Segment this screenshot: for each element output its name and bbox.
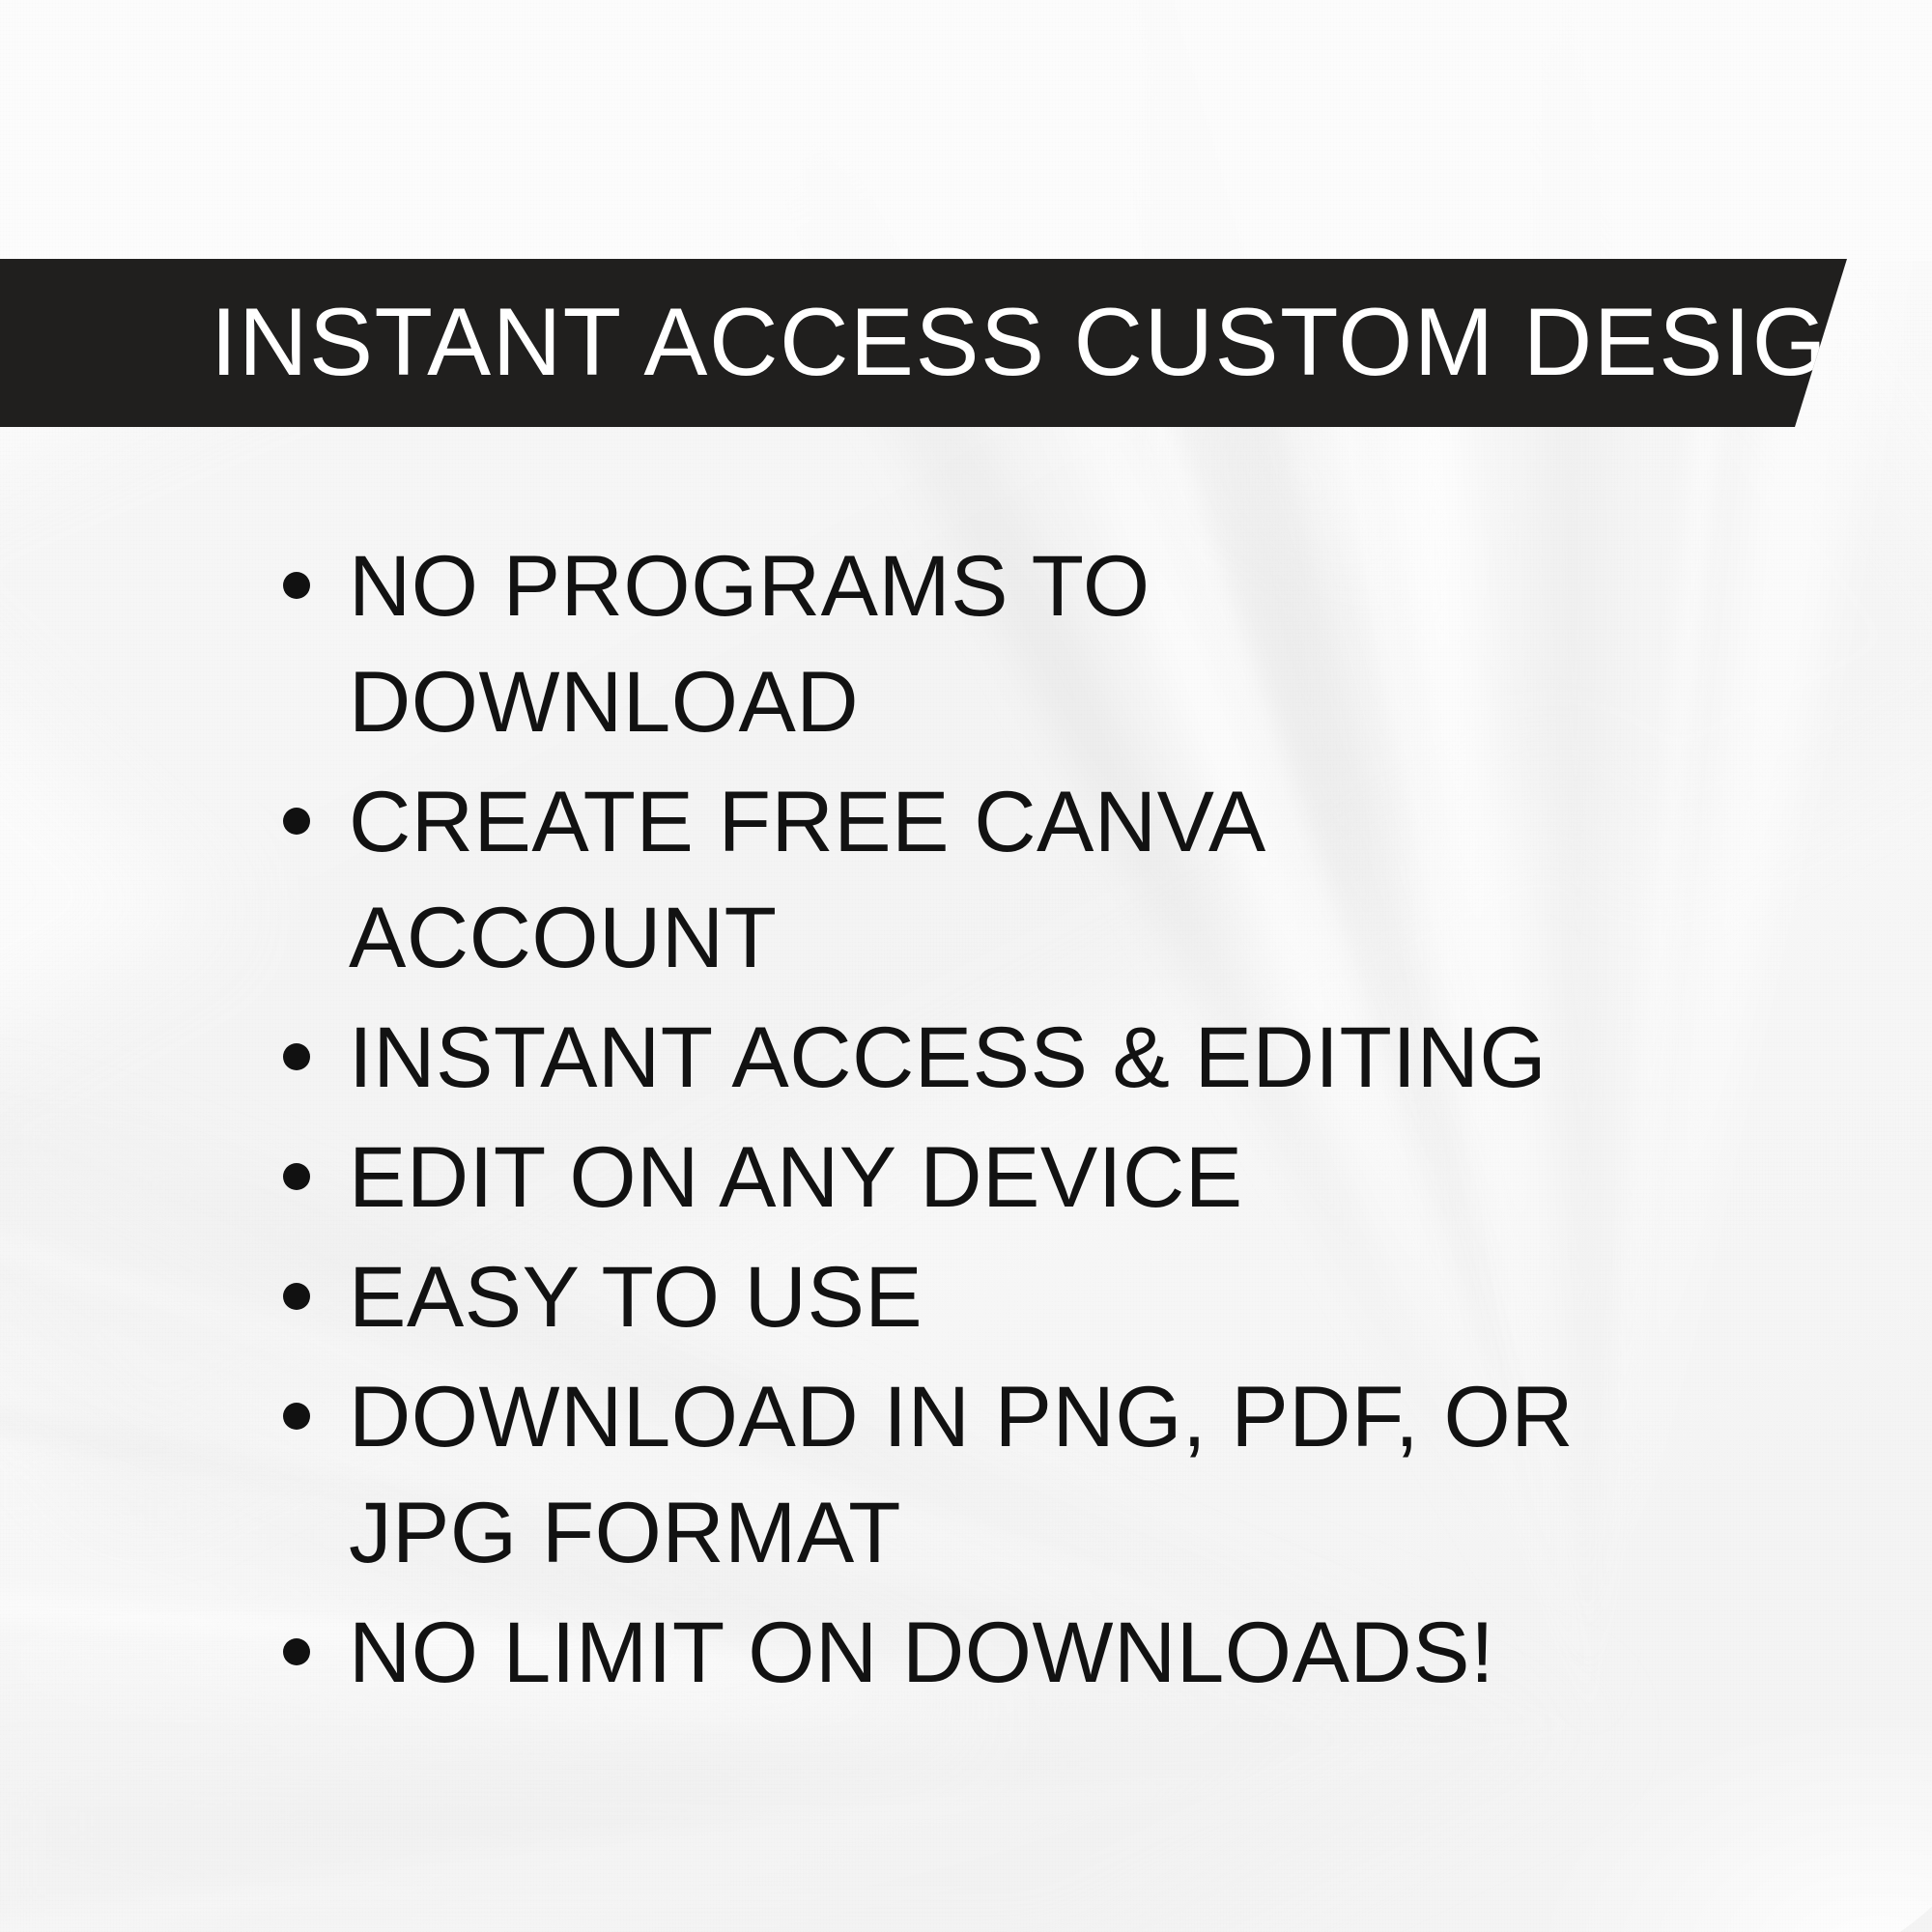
- list-item: INSTANT ACCESS & EDITING: [276, 999, 1629, 1115]
- list-item-label: EDIT ON ANY DEVICE: [349, 1119, 1629, 1235]
- list-item-label: INSTANT ACCESS & EDITING: [349, 999, 1629, 1115]
- list-item-label: NO PROGRAMS TO DOWNLOAD: [349, 527, 1629, 759]
- list-item-label: DOWNLOAD IN PNG, PDF, OR JPG FORMAT: [349, 1358, 1629, 1590]
- list-item: NO PROGRAMS TO DOWNLOAD: [276, 527, 1629, 759]
- bullet-dot-icon: [283, 1638, 310, 1665]
- list-item: EDIT ON ANY DEVICE: [276, 1119, 1629, 1235]
- page-title: INSTANT ACCESS CUSTOM DESIGNS: [211, 294, 1932, 389]
- feature-list: NO PROGRAMS TO DOWNLOAD CREATE FREE CANV…: [276, 527, 1629, 1714]
- list-item-label: EASY TO USE: [349, 1238, 1629, 1354]
- bullet-dot-icon: [283, 572, 310, 599]
- list-item-label: NO LIMIT ON DOWNLOADS!: [349, 1594, 1629, 1710]
- list-item: DOWNLOAD IN PNG, PDF, OR JPG FORMAT: [276, 1358, 1629, 1590]
- header-banner: INSTANT ACCESS CUSTOM DESIGNS: [0, 259, 1847, 427]
- bullet-dot-icon: [283, 1043, 310, 1070]
- bullet-dot-icon: [283, 1283, 310, 1310]
- bullet-dot-icon: [283, 1403, 310, 1430]
- list-item: NO LIMIT ON DOWNLOADS!: [276, 1594, 1629, 1710]
- list-item: EASY TO USE: [276, 1238, 1629, 1354]
- list-item-label: CREATE FREE CANVA ACCOUNT: [349, 763, 1629, 995]
- bullet-dot-icon: [283, 1163, 310, 1190]
- list-item: CREATE FREE CANVA ACCOUNT: [276, 763, 1629, 995]
- bullet-dot-icon: [283, 808, 310, 835]
- poster-canvas: INSTANT ACCESS CUSTOM DESIGNS NO PROGRAM…: [0, 0, 1932, 1932]
